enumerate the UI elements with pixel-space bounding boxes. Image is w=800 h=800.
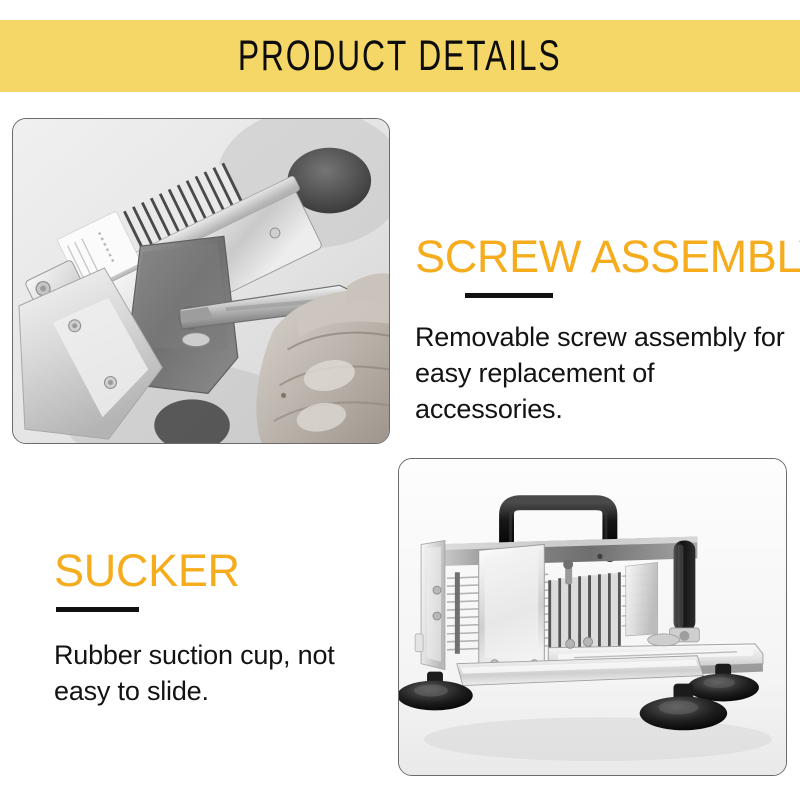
title-underline-rule — [465, 293, 553, 298]
feature-body-sucker: Rubber suction cup, not easy to slide. — [54, 638, 394, 710]
feature-title-screw-assembly: SCREW ASSEMBLY — [415, 234, 795, 279]
screw-assembly-photo — [12, 118, 390, 444]
feature-screw-assembly: SCREW ASSEMBLY Removable screw assembly … — [415, 234, 795, 428]
tomato-slicer-illustration — [399, 459, 786, 775]
screw-assembly-illustration — [13, 119, 389, 443]
page-header-banner: PRODUCT DETAILS — [0, 20, 800, 92]
product-details-page: PRODUCT DETAILS — [0, 0, 800, 800]
feature-sucker: SUCKER Rubber suction cup, not easy to s… — [54, 548, 394, 710]
feature-body-screw-assembly: Removable screw assembly for easy replac… — [415, 320, 795, 428]
feature-title-sucker: SUCKER — [54, 548, 394, 593]
tomato-slicer-photo — [398, 458, 787, 776]
page-title: PRODUCT DETAILS — [238, 32, 562, 81]
title-underline-rule — [56, 607, 139, 612]
